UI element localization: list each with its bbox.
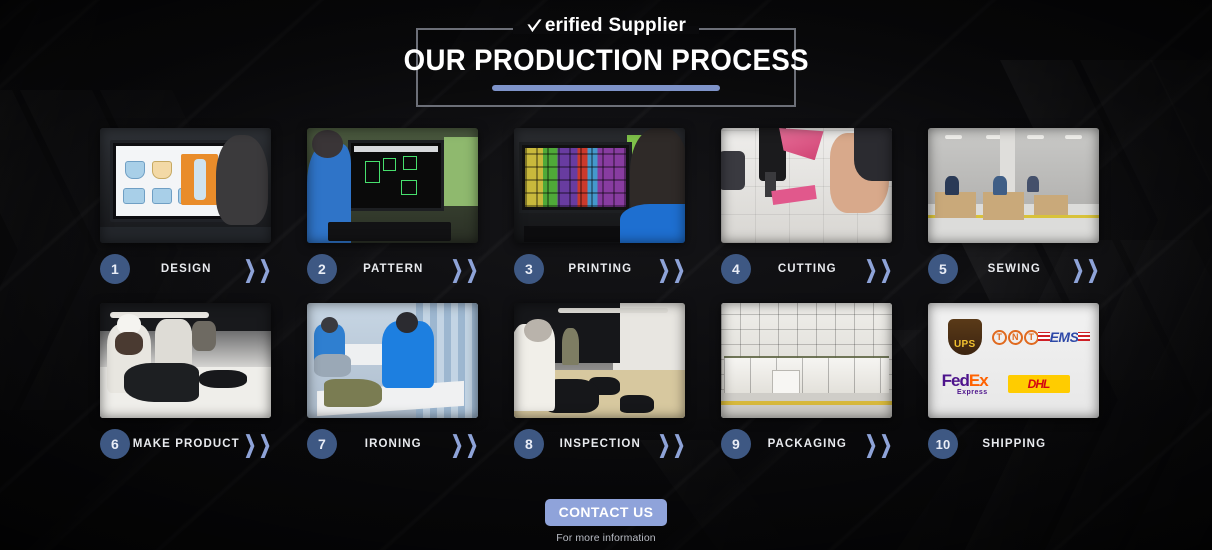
step-caption-6: 6 MAKE PRODUCT ❯❯ (100, 418, 271, 470)
verified-check-icon (526, 18, 543, 35)
step-caption-7: 7 IRONING ❯❯ (307, 418, 478, 470)
step-thumbnail-pattern[interactable] (307, 128, 478, 243)
process-step-6[interactable]: 6 MAKE PRODUCT ❯❯ (100, 303, 271, 470)
step-number-badge: 6 (100, 429, 130, 459)
step-caption-4: 4 CUTTING ❯❯ (721, 243, 892, 295)
step-label: INSPECTION (544, 438, 657, 450)
step-arrow-icon: ❯❯ (864, 436, 893, 453)
step-number-badge: 3 (514, 254, 544, 284)
step-thumbnail-sewing[interactable] (928, 128, 1099, 243)
step-caption-10: 10 SHIPPING ❯❯ (928, 418, 1099, 470)
step-caption-9: 9 PACKAGING ❯❯ (721, 418, 892, 470)
step-thumbnail-make-product[interactable] (100, 303, 271, 418)
page-footer: CONTACT US For more information (0, 499, 1212, 544)
step-number-badge: 1 (100, 254, 130, 284)
process-step-7[interactable]: 7 IRONING ❯❯ (307, 303, 478, 470)
process-row-1: 1 DESIGN ❯❯ 2 PATTERN ❯❯ (0, 128, 1212, 303)
step-caption-5: 5 SEWING ❯❯ (928, 243, 1099, 295)
process-step-5[interactable]: 5 SEWING ❯❯ (928, 128, 1099, 295)
step-arrow-icon: ❯❯ (657, 261, 686, 278)
step-caption-2: 2 PATTERN ❯❯ (307, 243, 478, 295)
contact-us-button[interactable]: CONTACT US (545, 499, 668, 526)
step-number-badge: 7 (307, 429, 337, 459)
step-arrow-icon: ❯❯ (657, 436, 686, 453)
footer-note: For more information (556, 532, 655, 544)
step-thumbnail-ironing[interactable] (307, 303, 478, 418)
process-step-1[interactable]: 1 DESIGN ❯❯ (100, 128, 271, 295)
step-arrow-icon: ❯❯ (450, 436, 479, 453)
step-number-badge: 8 (514, 429, 544, 459)
step-arrow-icon: ❯❯ (243, 261, 272, 278)
step-caption-1: 1 DESIGN ❯❯ (100, 243, 271, 295)
step-thumbnail-design[interactable] (100, 128, 271, 243)
step-label: PRINTING (544, 263, 657, 275)
step-number-badge: 4 (721, 254, 751, 284)
process-step-10[interactable]: UPS TNT EMS FedEx Express DHL 1 (928, 303, 1099, 470)
step-thumbnail-inspection[interactable] (514, 303, 685, 418)
step-label: CUTTING (751, 263, 864, 275)
step-number-badge: 5 (928, 254, 958, 284)
verified-supplier-badge: erified Supplier (526, 16, 686, 35)
step-caption-3: 3 PRINTING ❯❯ (514, 243, 685, 295)
step-arrow-icon: ❯❯ (243, 436, 272, 453)
step-thumbnail-packaging[interactable] (721, 303, 892, 418)
process-step-2[interactable]: 2 PATTERN ❯❯ (307, 128, 478, 295)
process-row-2: 6 MAKE PRODUCT ❯❯ 7 IRONING ❯❯ (0, 303, 1212, 478)
step-thumbnail-cutting[interactable] (721, 128, 892, 243)
step-label: SEWING (958, 263, 1071, 275)
step-number-badge: 10 (928, 429, 958, 459)
step-thumbnail-printing[interactable] (514, 128, 685, 243)
step-label: DESIGN (130, 263, 243, 275)
process-step-9[interactable]: 9 PACKAGING ❯❯ (721, 303, 892, 470)
title-underline (492, 85, 720, 91)
page-header: erified Supplier OUR PRODUCTION PROCESS (0, 16, 1212, 107)
step-arrow-icon: ❯❯ (1071, 261, 1100, 278)
title-frame: OUR PRODUCTION PROCESS (416, 28, 796, 107)
step-label: IRONING (337, 438, 450, 450)
process-step-3[interactable]: 3 PRINTING ❯❯ (514, 128, 685, 295)
step-label: PACKAGING (751, 438, 864, 450)
step-label: SHIPPING (958, 438, 1071, 450)
step-number-badge: 2 (307, 254, 337, 284)
step-thumbnail-shipping[interactable]: UPS TNT EMS FedEx Express DHL (928, 303, 1099, 418)
step-number-badge: 9 (721, 429, 751, 459)
production-process-grid: 1 DESIGN ❯❯ 2 PATTERN ❯❯ (0, 128, 1212, 478)
page-title: OUR PRODUCTION PROCESS (403, 46, 808, 76)
step-label: MAKE PRODUCT (130, 438, 243, 450)
supplier-label: Supplier (609, 16, 687, 35)
step-arrow-icon: ❯❯ (864, 261, 893, 278)
step-label: PATTERN (337, 263, 450, 275)
process-step-8[interactable]: 8 INSPECTION ❯❯ (514, 303, 685, 470)
verified-label: erified (545, 16, 603, 35)
step-arrow-icon: ❯❯ (450, 261, 479, 278)
step-caption-8: 8 INSPECTION ❯❯ (514, 418, 685, 470)
process-step-4[interactable]: 4 CUTTING ❯❯ (721, 128, 892, 295)
